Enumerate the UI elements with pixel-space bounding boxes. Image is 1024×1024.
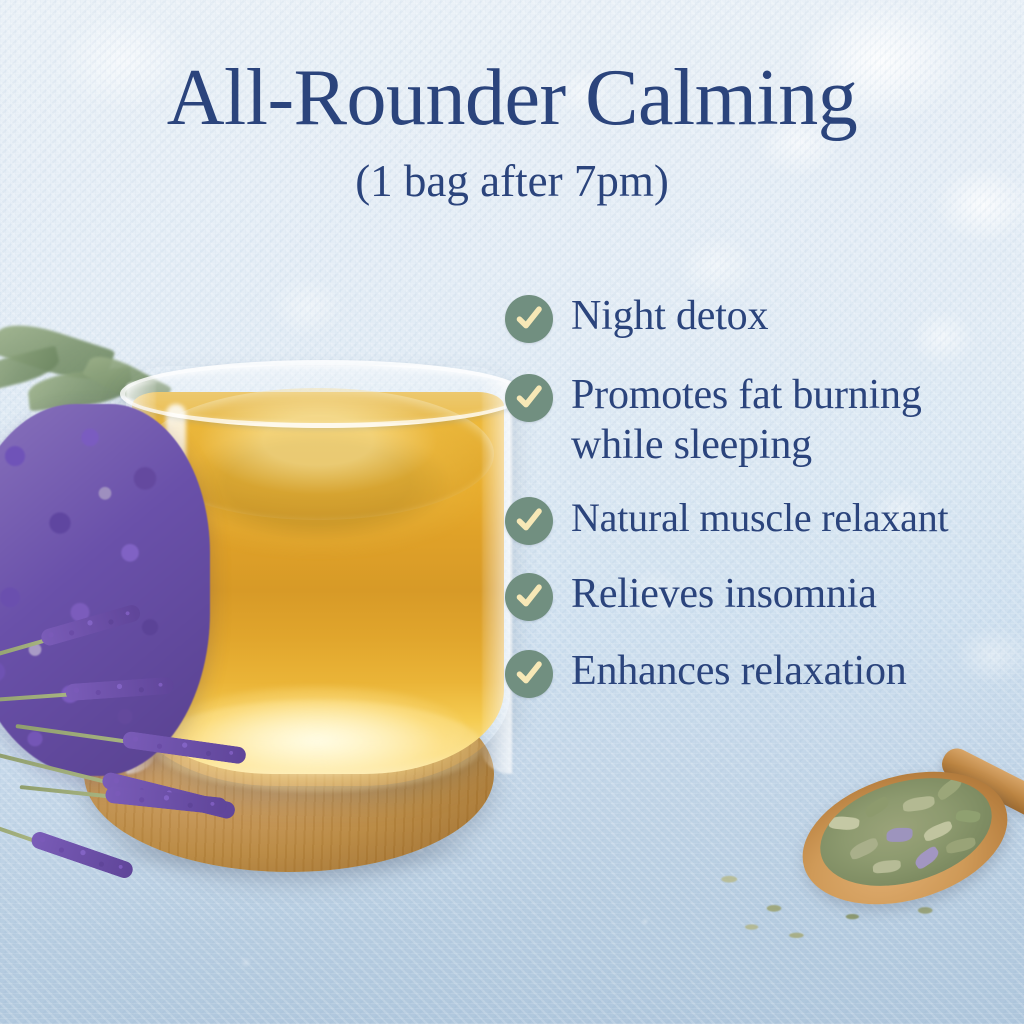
tea-surface <box>142 388 494 520</box>
herb-chip <box>955 808 981 824</box>
benefit-label: Natural muscle relaxant <box>571 494 948 541</box>
lavender-sprig <box>0 676 176 708</box>
page-subtitle: (1 bag after 7pm) <box>0 158 1024 205</box>
tea-glass <box>126 366 510 786</box>
page-title: All-Rounder Calming <box>0 58 1024 138</box>
benefits-list: Night detox Promotes fat burning while s… <box>505 292 1024 716</box>
lavender-sprig <box>0 601 146 664</box>
check-circle-icon <box>505 295 553 343</box>
check-circle-icon <box>505 497 553 545</box>
tea-benefits-poster: All-Rounder Calming (1 bag after 7pm) Ni… <box>0 0 1024 1024</box>
spilled-dried-herbs <box>690 848 970 952</box>
glass-base-highlight <box>152 700 482 792</box>
herb-chip <box>887 828 913 842</box>
tea-swirl <box>144 408 492 558</box>
lavender-sprig <box>0 806 139 881</box>
list-item: Enhances relaxation <box>505 647 1024 698</box>
coaster-shadow <box>96 828 486 876</box>
list-item: Relieves insomnia <box>505 570 1024 621</box>
amber-tea-liquid <box>132 392 504 774</box>
herb-chip <box>945 837 977 855</box>
lavender-sprig <box>19 776 230 816</box>
herb-chip <box>922 820 954 842</box>
lavender-sprig <box>0 742 239 822</box>
benefit-label: Enhances relaxation <box>571 647 907 697</box>
herb-chip <box>863 795 892 818</box>
tea-bottom-glow <box>170 686 466 772</box>
sage-leaf-icon <box>0 346 62 395</box>
sage-leaf-icon <box>82 348 172 415</box>
benefit-label: Promotes fat burning while sleeping <box>571 371 922 470</box>
herb-chip <box>902 795 935 812</box>
herb-chip <box>872 860 901 874</box>
herb-chip <box>935 775 965 801</box>
check-circle-icon <box>505 374 553 422</box>
glass-left-wall <box>126 382 156 774</box>
list-item: Natural muscle relaxant <box>505 494 1024 545</box>
benefit-label: Relieves insomnia <box>571 570 877 620</box>
spoon-bowl <box>787 749 1023 926</box>
herb-chip <box>848 837 881 861</box>
lavender-bunch <box>0 404 210 776</box>
list-item: Night detox <box>505 292 1024 343</box>
check-circle-icon <box>505 573 553 621</box>
list-item: Promotes fat burning while sleeping <box>505 371 1024 470</box>
dried-herbs-in-spoon <box>808 760 1005 905</box>
sage-leaf-icon <box>27 367 134 412</box>
sage-leaf-icon <box>0 315 115 390</box>
spoon-handle <box>937 744 1024 839</box>
glass-rim <box>120 360 526 428</box>
wooden-coaster <box>84 676 494 872</box>
herb-chip <box>829 815 860 831</box>
lavender-sprig <box>15 714 246 766</box>
benefit-label: Night detox <box>571 292 768 342</box>
check-circle-icon <box>505 650 553 698</box>
herb-chip <box>912 845 941 870</box>
glass-highlight <box>166 404 186 704</box>
